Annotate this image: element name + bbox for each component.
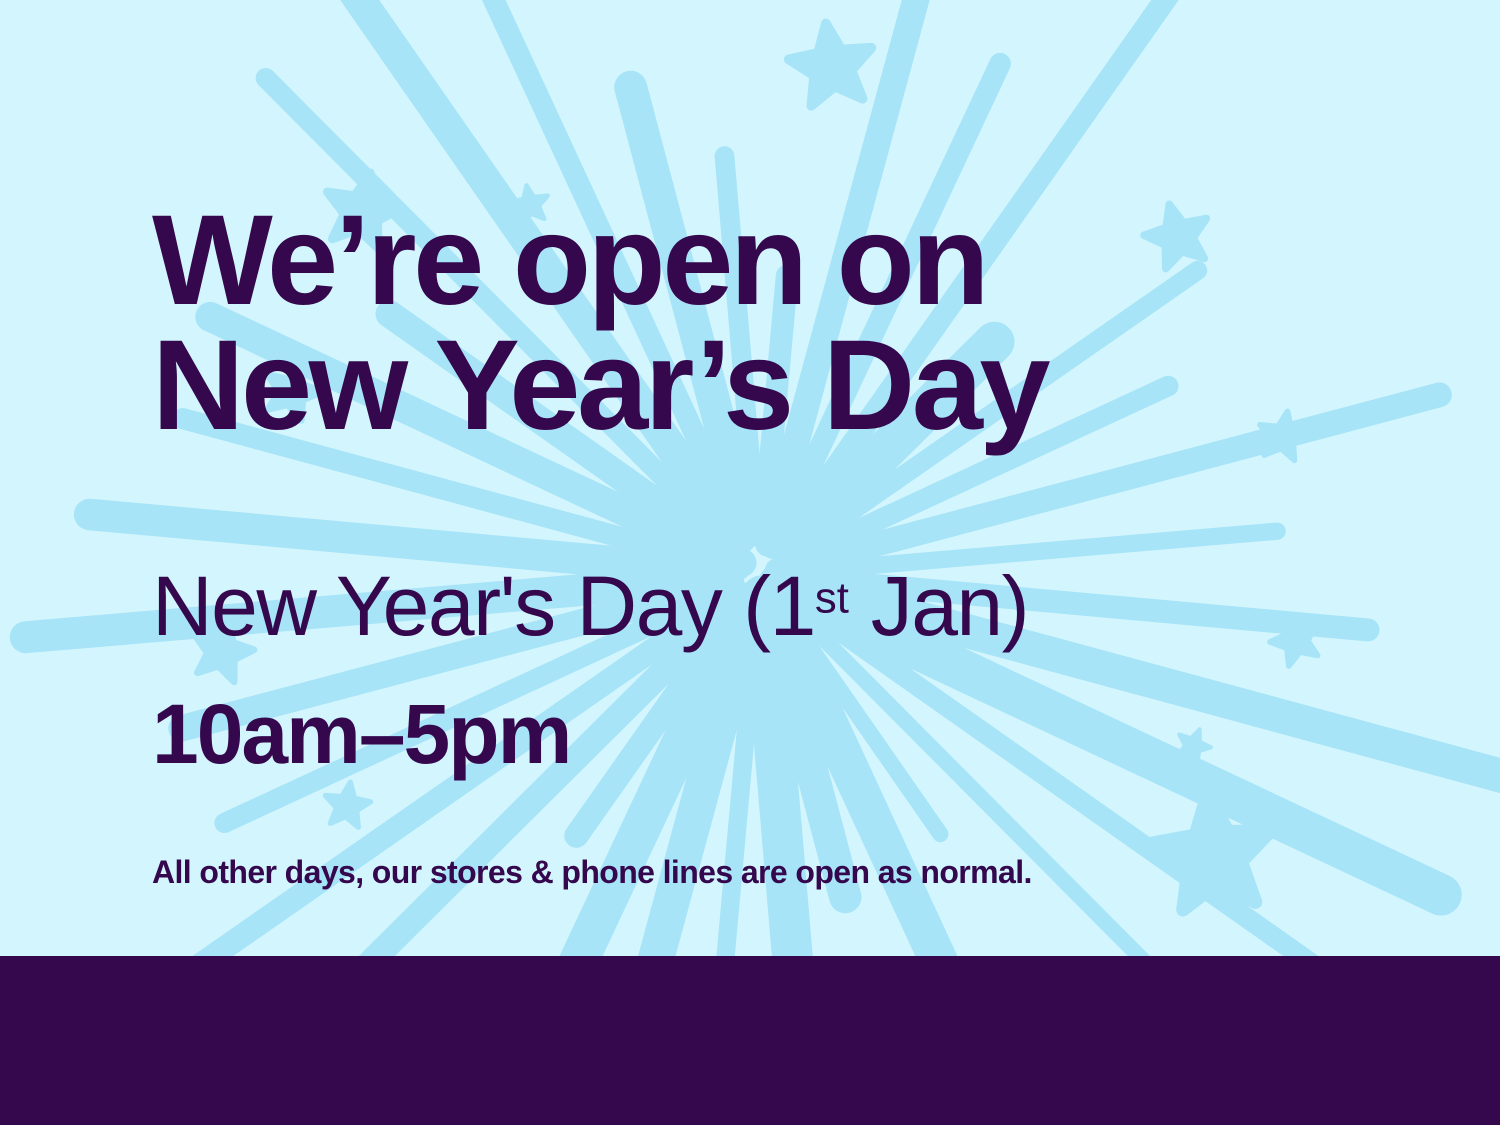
footer-bar [0,956,1500,1125]
headline: We’re open on New Year’s Day [152,198,1402,449]
subtitle-prefix: New Year's Day (1 [152,559,815,653]
headline-line-2: New Year’s Day [152,323,1402,448]
headline-line-1: We’re open on [152,198,1402,323]
subtitle-date: New Year's Day (1st Jan) [152,564,1028,648]
opening-hours: 10am–5pm [152,692,570,776]
subtitle-suffix: Jan) [849,559,1028,653]
promo-banner: We’re open on New Year’s Day New Year's … [0,0,1500,1125]
fineprint-note: All other days, our stores & phone lines… [152,853,1032,891]
ordinal-suffix: st [815,573,849,622]
